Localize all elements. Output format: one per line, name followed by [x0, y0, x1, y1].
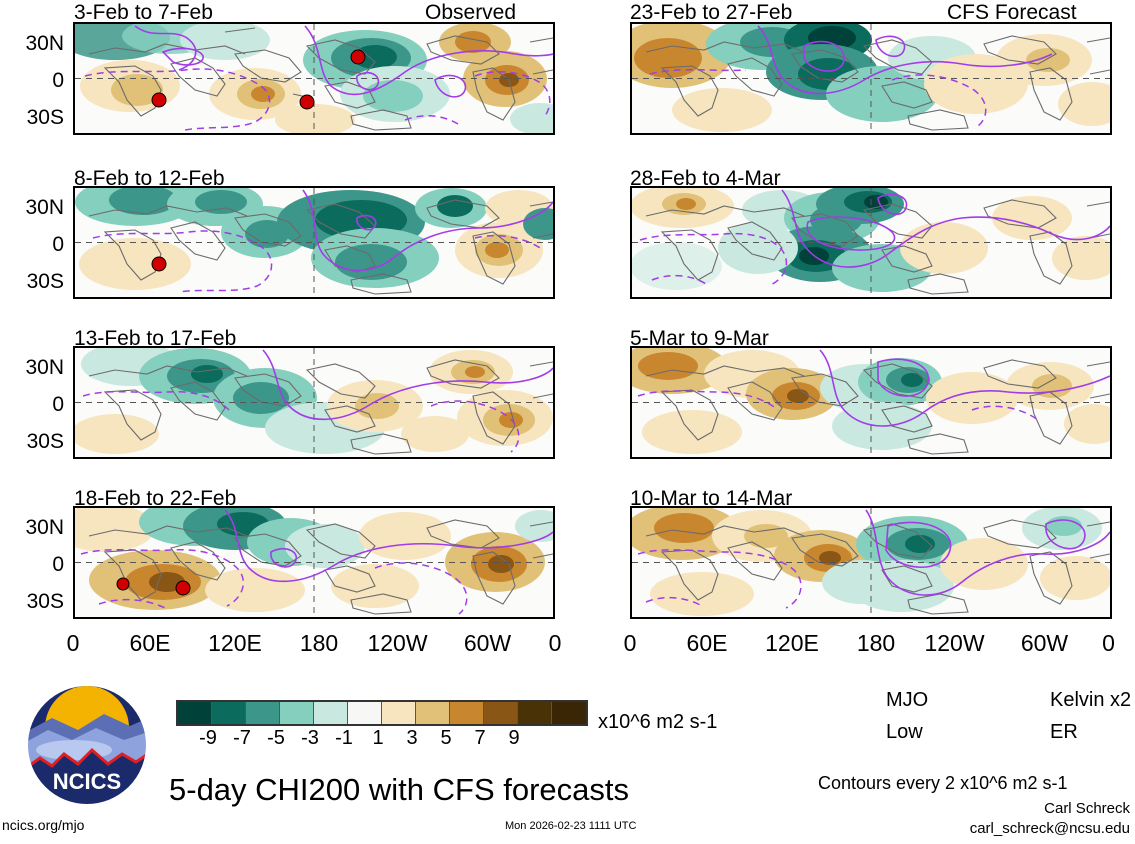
colorbar [176, 700, 588, 726]
map-panel-5[interactable] [630, 186, 1112, 299]
author-name: Carl Schreck [900, 800, 1130, 817]
column-tag-cfs-forecast: CFS Forecast [947, 2, 1077, 23]
x-axis-label-right-120w: 120W [907, 632, 1002, 655]
colorbar-segment-4 [314, 702, 348, 724]
column-tag-observed: Observed [425, 2, 516, 23]
map-panel-6[interactable] [630, 346, 1112, 459]
panel-title-0: 3-Feb to 7-Feb [74, 2, 213, 23]
y-axis-label-30s-row3: 30S [0, 591, 64, 612]
colorbar-unit-label: x10^6 m2 s-1 [598, 712, 717, 732]
map-panel-7[interactable] [630, 506, 1112, 619]
colorbar-segment-5 [348, 702, 382, 724]
ncics-logo[interactable]: NCICS [26, 684, 148, 806]
y-axis-label-30n-row0: 30N [0, 33, 64, 54]
x-axis-label-left-60e: 60E [110, 632, 190, 655]
x-axis-label-left-60w: 60W [445, 632, 530, 655]
y-axis-label-30n-row3: 30N [0, 517, 64, 538]
x-axis-label-right-60w: 60W [1002, 632, 1087, 655]
legend-label-mjo: MJO [886, 690, 928, 710]
site-url[interactable]: ncics.org/mjo [2, 818, 84, 832]
figure-timestamp: Mon 2026-02-23 1111 UTC [505, 821, 636, 832]
map-panel-1[interactable] [73, 186, 555, 299]
y-axis-label-0-row2: 0 [0, 394, 64, 415]
x-axis-label-right-60e: 60E [667, 632, 747, 655]
colorbar-segment-1 [212, 702, 246, 724]
figure-main-title: 5-day CHI200 with CFS forecasts [169, 774, 629, 805]
colorbar-segment-11 [552, 702, 586, 724]
colorbar-segment-10 [518, 702, 552, 724]
x-axis-label-left-360: 0 [525, 632, 585, 655]
ncics-logo-text: NCICS [53, 769, 121, 794]
y-axis-label-30s-row0: 30S [0, 107, 64, 128]
map-panel-3[interactable] [73, 506, 555, 619]
contour-interval-note: Contours every 2 x10^6 m2 s-1 [818, 774, 1068, 792]
colorbar-segment-7 [416, 702, 450, 724]
colorbar-segment-9 [484, 702, 518, 724]
colorbar-segment-6 [382, 702, 416, 724]
legend-label-er: ER [1050, 722, 1078, 742]
x-axis-label-left-0: 0 [43, 632, 103, 655]
y-axis-label-0-row0: 0 [0, 70, 64, 91]
x-axis-label-left-120e: 120E [190, 632, 280, 655]
colorbar-segment-2 [246, 702, 280, 724]
panel-title-4: 23-Feb to 27-Feb [630, 2, 792, 23]
y-axis-label-30s-row1: 30S [0, 271, 64, 292]
x-axis-label-left-120w: 120W [350, 632, 445, 655]
x-axis-label-left-180: 180 [284, 632, 354, 655]
x-axis-label-right-120e: 120E [747, 632, 837, 655]
y-axis-label-0-row3: 0 [0, 554, 64, 575]
y-axis-label-0-row1: 0 [0, 234, 64, 255]
x-axis-label-right-360: 0 [1082, 632, 1135, 655]
legend-label-kelvin: Kelvin x2 [1050, 690, 1131, 710]
colorbar-segment-8 [450, 702, 484, 724]
legend-label-low: Low [886, 722, 923, 742]
author-email[interactable]: carl_schreck@ncsu.edu [900, 820, 1130, 837]
y-axis-label-30n-row1: 30N [0, 197, 64, 218]
colorbar-segment-3 [280, 702, 314, 724]
map-panel-4[interactable] [630, 22, 1112, 135]
x-axis-label-right-180: 180 [841, 632, 911, 655]
x-axis-label-right-0: 0 [600, 632, 660, 655]
y-axis-label-30n-row2: 30N [0, 357, 64, 378]
map-panel-2[interactable] [73, 346, 555, 459]
y-axis-label-30s-row2: 30S [0, 431, 64, 452]
map-panel-0[interactable] [73, 22, 555, 135]
colorbar-segment-0 [178, 702, 212, 724]
colorbar-tick-9: 9 [494, 728, 534, 748]
